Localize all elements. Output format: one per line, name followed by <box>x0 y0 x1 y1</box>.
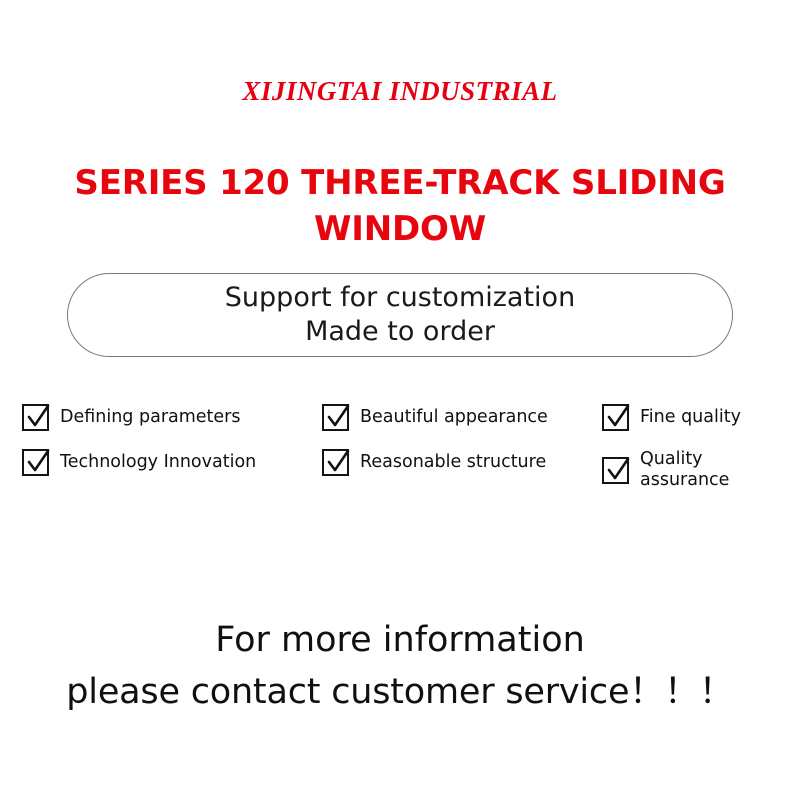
feature-row: Technology Innovation Reasonable structu… <box>22 449 778 491</box>
footer-line-1: For more information <box>0 614 800 666</box>
feature-label: Beautiful appearance <box>360 407 548 428</box>
customization-callout: Support for customization Made to order <box>67 273 733 357</box>
checkbox-checked-icon <box>602 404 629 431</box>
callout-line-2: Made to order <box>305 315 495 349</box>
checkbox-checked-icon <box>22 404 49 431</box>
feature-label: Defining parameters <box>60 407 241 428</box>
footer-message: For more information please contact cust… <box>0 614 800 718</box>
checkbox-checked-icon <box>22 449 49 476</box>
feature-label: Quality assurance <box>640 449 778 491</box>
feature-item-fine-quality: Fine quality <box>602 404 778 431</box>
promo-banner: XIJINGTAI INDUSTRIAL SERIES 120 THREE-TR… <box>0 0 800 800</box>
feature-label: Reasonable structure <box>360 452 546 473</box>
feature-label: Technology Innovation <box>60 452 256 473</box>
feature-row: Defining parameters Beautiful appearance… <box>22 404 778 431</box>
brand-title: XIJINGTAI INDUSTRIAL <box>0 76 800 107</box>
product-headline: SERIES 120 THREE-TRACK SLIDING WINDOW <box>40 160 760 252</box>
feature-label: Fine quality <box>640 407 741 428</box>
feature-list: Defining parameters Beautiful appearance… <box>22 404 778 509</box>
callout-line-1: Support for customization <box>225 281 575 315</box>
checkbox-checked-icon <box>602 457 629 484</box>
checkbox-checked-icon <box>322 449 349 476</box>
feature-item-defining-parameters: Defining parameters <box>22 404 322 431</box>
footer-line-2: please contact customer service！！！ <box>0 666 800 718</box>
feature-item-reasonable-structure: Reasonable structure <box>322 449 602 476</box>
feature-item-beautiful-appearance: Beautiful appearance <box>322 404 602 431</box>
feature-item-quality-assurance: Quality assurance <box>602 449 778 491</box>
checkbox-checked-icon <box>322 404 349 431</box>
feature-item-technology-innovation: Technology Innovation <box>22 449 322 476</box>
